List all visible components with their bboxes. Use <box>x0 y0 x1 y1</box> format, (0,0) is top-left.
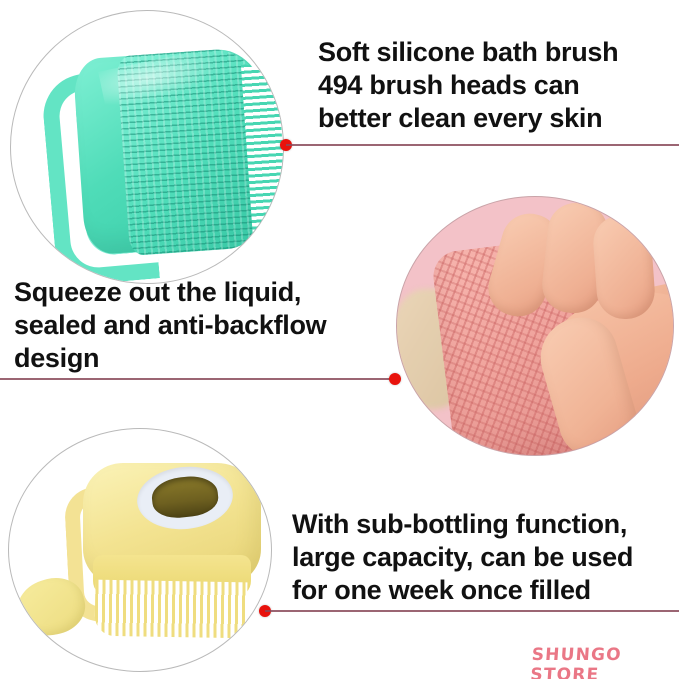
connector-line-1 <box>286 144 679 146</box>
hand-finger-ring <box>591 213 656 321</box>
photo-pink-brush-in-hand <box>396 196 674 456</box>
caption-with-sub-bottling-function: With sub-bottling function, large capaci… <box>292 508 672 607</box>
photo-teal-brush <box>10 10 284 284</box>
connector-line-3 <box>265 610 679 612</box>
infographic-page: Soft silicone bath brush 494 brush heads… <box>0 0 679 679</box>
store-watermark: SHUNGO STORE <box>530 645 679 679</box>
caption-squeeze-out-the-liquid: Squeeze out the liquid, sealed and anti-… <box>14 276 402 375</box>
pink-brush-illustration <box>397 197 673 455</box>
yellow-brush-illustration <box>9 429 271 671</box>
teal-brush-illustration <box>11 11 283 283</box>
connector-line-2 <box>0 378 396 380</box>
photo-yellow-brush <box>8 428 272 672</box>
yellow-brush-bristles <box>95 580 248 639</box>
caption-soft-silicone-bath-brush: Soft silicone bath brush 494 brush heads… <box>318 36 670 135</box>
connector-dot-2 <box>389 373 401 385</box>
